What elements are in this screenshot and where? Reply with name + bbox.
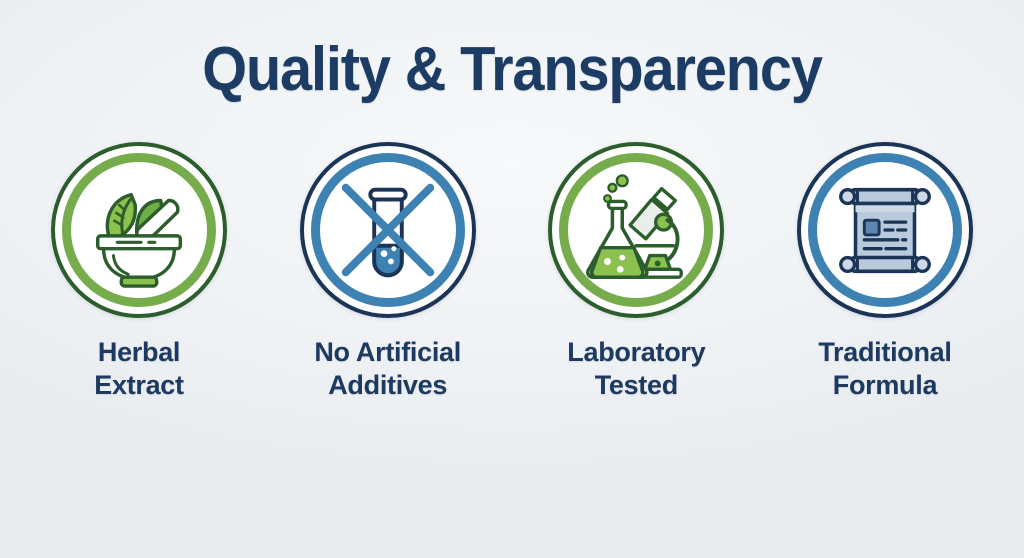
badge-label: Herbal Extract (94, 336, 183, 402)
badge-label-line2: Additives (314, 369, 461, 402)
badge-label-line2: Formula (818, 369, 951, 402)
badge-label-line2: Tested (567, 369, 705, 402)
badge-ring-outer (797, 142, 973, 318)
badge-row: Herbal Extract (0, 142, 1024, 402)
badge-label-line2: Extract (94, 369, 183, 402)
badge-traditional-formula[interactable]: Traditional Formula (780, 142, 990, 402)
badge-label-line1: Traditional (818, 337, 951, 367)
badge-label-line1: Herbal (98, 337, 180, 367)
badge-label-line1: No Artificial (314, 337, 461, 367)
badge-ring-outer (300, 142, 476, 318)
badge-laboratory-tested[interactable]: Laboratory Tested (531, 142, 741, 402)
badge-no-artificial-additives[interactable]: No Artificial Additives (283, 142, 493, 402)
page-title: Quality & Transparency (36, 34, 988, 106)
quality-transparency-poster: Quality & Transparency (0, 0, 1024, 558)
badge-herbal-extract[interactable]: Herbal Extract (34, 142, 244, 402)
mortar-and-pestle-icon (80, 171, 198, 289)
badge-label: Traditional Formula (818, 336, 951, 402)
scroll-document-icon (826, 171, 944, 289)
badge-ring-outer (548, 142, 724, 318)
flask-microscope-icon (577, 171, 695, 289)
no-test-tube-icon (329, 171, 447, 289)
badge-label: No Artificial Additives (314, 336, 461, 402)
badge-ring-outer (51, 142, 227, 318)
badge-label: Laboratory Tested (567, 336, 705, 402)
badge-label-line1: Laboratory (567, 337, 705, 367)
